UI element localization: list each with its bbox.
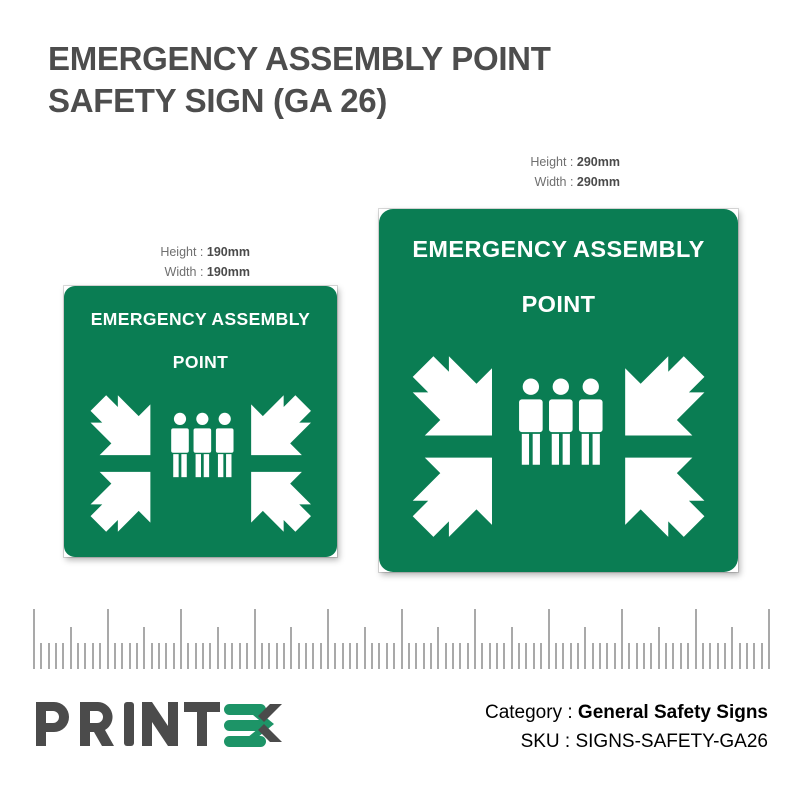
sign-green-panel-small: EMERGENCY ASSEMBLY POINT bbox=[64, 286, 337, 557]
ruler-tick bbox=[709, 643, 711, 669]
ruler-tick bbox=[592, 643, 594, 669]
ruler-tick bbox=[349, 643, 351, 669]
ruler-tick bbox=[114, 643, 116, 669]
printex-logo[interactable] bbox=[34, 696, 284, 752]
sign-preview-small[interactable]: EMERGENCY ASSEMBLY POINT bbox=[64, 286, 337, 557]
ruler-tick bbox=[84, 643, 86, 669]
product-meta: Category : General Safety Signs SKU : SI… bbox=[485, 698, 768, 757]
ruler-tick bbox=[77, 643, 79, 669]
ruler-tick bbox=[283, 643, 285, 669]
ruler-tick bbox=[62, 643, 64, 669]
ruler-tick bbox=[525, 643, 527, 669]
ruler-tick bbox=[474, 609, 476, 669]
sign-preview-large[interactable]: EMERGENCY ASSEMBLY POINT bbox=[379, 209, 738, 572]
ruler-tick bbox=[658, 627, 660, 669]
width-row-large: Width : 290mm bbox=[462, 172, 620, 192]
ruler-tick bbox=[570, 643, 572, 669]
ruler-tick bbox=[342, 643, 344, 669]
ruler-tick bbox=[606, 643, 608, 669]
ruler-tick bbox=[393, 643, 395, 669]
ruler-tick bbox=[650, 643, 652, 669]
ruler-tick bbox=[70, 627, 72, 669]
ruler-tick bbox=[195, 643, 197, 669]
sign-text-line2-small: POINT bbox=[64, 352, 337, 373]
width-value-large: 290mm bbox=[577, 175, 620, 189]
ruler-tick bbox=[121, 643, 123, 669]
category-label: Category : bbox=[485, 702, 573, 723]
ruler-tick bbox=[452, 643, 454, 669]
ruler-tick bbox=[717, 643, 719, 669]
ruler-tick bbox=[320, 643, 322, 669]
ruler-tick bbox=[401, 609, 403, 669]
ruler-tick bbox=[739, 643, 741, 669]
ruler-tick bbox=[687, 643, 689, 669]
three-people-group-icon bbox=[514, 378, 604, 469]
sign-text-line1-small: EMERGENCY ASSEMBLY bbox=[64, 309, 337, 330]
ruler-tick bbox=[268, 643, 270, 669]
ruler-tick bbox=[511, 627, 513, 669]
ruler-tick bbox=[33, 609, 35, 669]
ruler-tick bbox=[467, 643, 469, 669]
ruler-tick bbox=[489, 643, 491, 669]
ruler-tick bbox=[459, 643, 461, 669]
ruler-tick bbox=[621, 609, 623, 669]
ruler-tick bbox=[599, 643, 601, 669]
ruler-tick bbox=[276, 643, 278, 669]
ruler-tick bbox=[165, 643, 167, 669]
ruler-tick bbox=[364, 627, 366, 669]
ruler-tick bbox=[239, 643, 241, 669]
ruler-tick bbox=[290, 627, 292, 669]
height-value-small: 190mm bbox=[207, 245, 250, 259]
ruler-tick bbox=[312, 643, 314, 669]
sku-label: SKU : bbox=[521, 731, 571, 752]
ruler-tick bbox=[731, 627, 733, 669]
ruler-tick bbox=[143, 627, 145, 669]
arrow-top-left-icon bbox=[411, 354, 497, 441]
width-value-small: 190mm bbox=[207, 265, 250, 279]
ruler-tick bbox=[481, 643, 483, 669]
ruler-tick bbox=[254, 609, 256, 669]
ruler-tick bbox=[356, 643, 358, 669]
ruler-tick bbox=[665, 643, 667, 669]
ruler-tick bbox=[246, 643, 248, 669]
ruler-tick bbox=[636, 643, 638, 669]
arrow-top-left-icon bbox=[89, 394, 155, 459]
height-label-large: Height : bbox=[530, 155, 573, 169]
sign-text-line1-large: EMERGENCY ASSEMBLY bbox=[379, 236, 738, 263]
dimensions-caption-large: Height : 290mm Width : 290mm bbox=[462, 152, 620, 193]
sku-value: SIGNS-SAFETY-GA26 bbox=[575, 731, 768, 752]
height-row-small: Height : 190mm bbox=[92, 242, 250, 262]
ruler-tick bbox=[503, 643, 505, 669]
ruler-tick bbox=[99, 643, 101, 669]
ruler-tick bbox=[768, 609, 770, 669]
ruler-tick bbox=[562, 643, 564, 669]
product-image-canvas: EMERGENCY ASSEMBLY POINT SAFETY SIGN (GA… bbox=[0, 0, 800, 800]
ruler-tick bbox=[92, 643, 94, 669]
ruler-tick bbox=[180, 609, 182, 669]
ruler-tick bbox=[533, 643, 535, 669]
category-row: Category : General Safety Signs bbox=[485, 698, 768, 727]
ruler-tick bbox=[158, 643, 160, 669]
ruler-tick bbox=[187, 643, 189, 669]
ruler-tick bbox=[430, 643, 432, 669]
ruler-tick bbox=[614, 643, 616, 669]
ruler-tick bbox=[423, 643, 425, 669]
category-value: General Safety Signs bbox=[578, 702, 768, 723]
ruler-tick bbox=[496, 643, 498, 669]
ruler-tick bbox=[695, 609, 697, 669]
ruler-tick bbox=[327, 609, 329, 669]
arrow-bottom-left-icon bbox=[89, 468, 155, 533]
ruler-tick bbox=[415, 643, 417, 669]
ruler-tick bbox=[680, 643, 682, 669]
ruler-tick bbox=[217, 627, 219, 669]
ruler-tick bbox=[378, 643, 380, 669]
height-value-large: 290mm bbox=[577, 155, 620, 169]
ruler-tick bbox=[136, 643, 138, 669]
ruler-tick bbox=[40, 643, 42, 669]
ruler-tick bbox=[298, 643, 300, 669]
ruler-tick bbox=[672, 643, 674, 669]
arrow-bottom-left-icon bbox=[411, 452, 497, 539]
ruler-tick bbox=[702, 643, 704, 669]
ruler-tick bbox=[577, 643, 579, 669]
page-title-line-1: EMERGENCY ASSEMBLY POINT bbox=[48, 38, 738, 80]
ruler-tick bbox=[643, 643, 645, 669]
ruler-tick bbox=[231, 643, 233, 669]
sign-green-panel-large: EMERGENCY ASSEMBLY POINT bbox=[379, 209, 738, 572]
ruler-tick bbox=[261, 643, 263, 669]
ruler-tick bbox=[437, 627, 439, 669]
height-row-large: Height : 290mm bbox=[462, 152, 620, 172]
three-people-group-icon bbox=[166, 412, 234, 480]
ruler-tick bbox=[202, 643, 204, 669]
ruler-tick bbox=[584, 627, 586, 669]
sku-row: SKU : SIGNS-SAFETY-GA26 bbox=[485, 727, 768, 756]
ruler-tick bbox=[555, 643, 557, 669]
ruler-tick bbox=[540, 643, 542, 669]
scale-ruler bbox=[33, 597, 768, 669]
ruler-tick bbox=[334, 643, 336, 669]
arrow-top-right-icon bbox=[247, 394, 313, 459]
arrow-top-right-icon bbox=[620, 354, 706, 441]
ruler-tick bbox=[224, 643, 226, 669]
ruler-tick bbox=[753, 643, 755, 669]
ruler-tick bbox=[746, 643, 748, 669]
ruler-tick bbox=[107, 609, 109, 669]
ruler-tick bbox=[371, 643, 373, 669]
ruler-tick bbox=[724, 643, 726, 669]
arrow-bottom-right-icon bbox=[247, 468, 313, 533]
ruler-tick bbox=[48, 643, 50, 669]
ruler-tick bbox=[761, 643, 763, 669]
width-row-small: Width : 190mm bbox=[92, 262, 250, 282]
ruler-tick bbox=[55, 643, 57, 669]
page-title-line-2: SAFETY SIGN (GA 26) bbox=[48, 80, 738, 122]
ruler-tick bbox=[408, 643, 410, 669]
page-title: EMERGENCY ASSEMBLY POINT SAFETY SIGN (GA… bbox=[48, 38, 738, 122]
arrow-bottom-right-icon bbox=[620, 452, 706, 539]
ruler-tick bbox=[445, 643, 447, 669]
ruler-tick bbox=[386, 643, 388, 669]
ruler-tick bbox=[305, 643, 307, 669]
ruler-tick bbox=[628, 643, 630, 669]
ruler-tick bbox=[518, 643, 520, 669]
height-label-small: Height : bbox=[160, 245, 203, 259]
ruler-tick bbox=[173, 643, 175, 669]
dimensions-caption-small: Height : 190mm Width : 190mm bbox=[92, 242, 250, 283]
sign-text-line2-large: POINT bbox=[379, 291, 738, 318]
ruler-tick bbox=[209, 643, 211, 669]
width-label-large: Width : bbox=[535, 175, 574, 189]
ruler-tick bbox=[129, 643, 131, 669]
width-label-small: Width : bbox=[165, 265, 204, 279]
ruler-tick bbox=[548, 609, 550, 669]
ruler-tick bbox=[151, 643, 153, 669]
